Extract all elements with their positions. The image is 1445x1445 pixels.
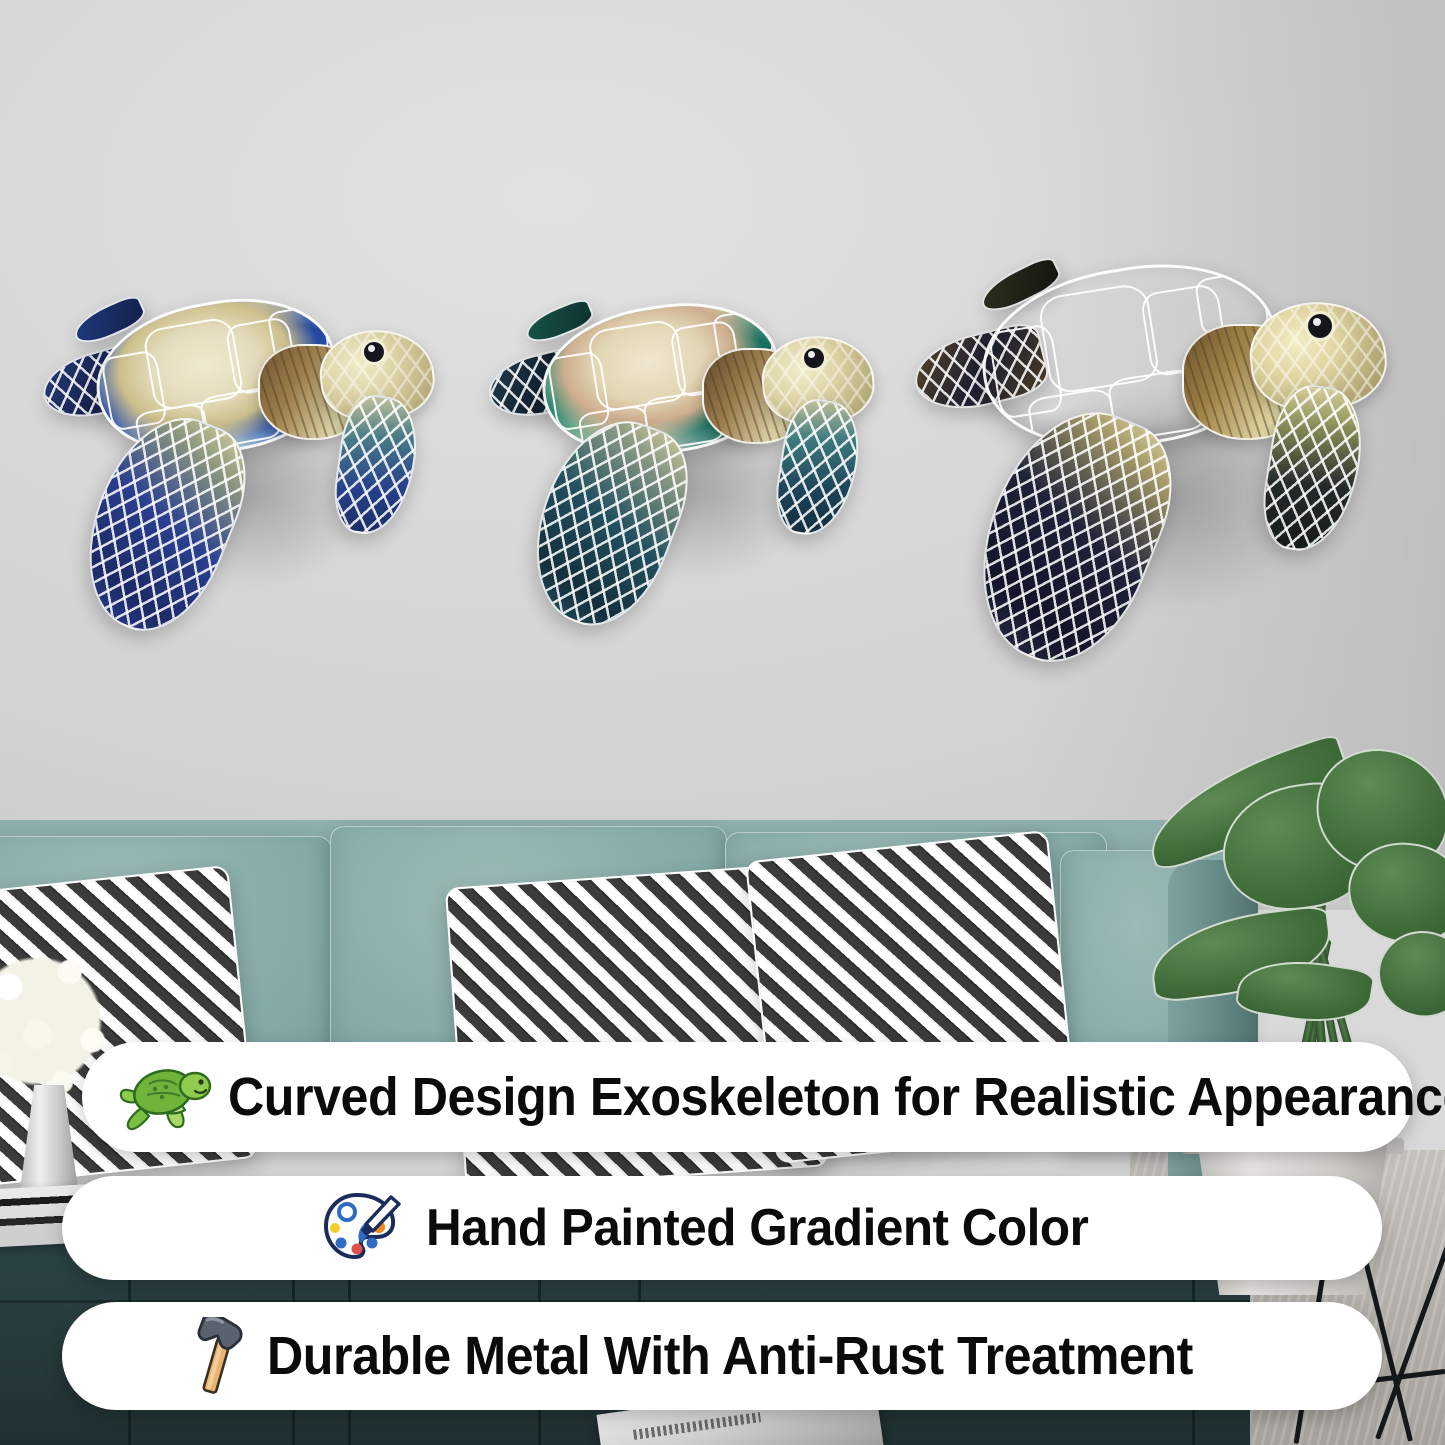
feature-banner-hand-painted[interactable]: Hand Painted Gradient Color (62, 1176, 1382, 1280)
turtle-icon (118, 1061, 214, 1133)
product-feature-image: Curved Design Exoskeleton for Realistic … (0, 0, 1445, 1445)
feature-label: Hand Painted Gradient Color (426, 1198, 1088, 1258)
turtle-eye (364, 342, 384, 362)
feature-label: Durable Metal With Anti-Rust Treatment (267, 1325, 1193, 1387)
turtle-sculpture-blue (48, 286, 438, 636)
turtle-eye (1308, 314, 1332, 338)
feature-label: Curved Design Exoskeleton for Realistic … (228, 1066, 1445, 1128)
hammer-icon (181, 1317, 259, 1395)
turtle-sculpture-brown (920, 256, 1390, 666)
palette-icon (320, 1191, 404, 1265)
turtle-eye (804, 348, 824, 368)
turtle-sculpture-teal (498, 296, 878, 626)
feature-banner-curved-design[interactable]: Curved Design Exoskeleton for Realistic … (82, 1042, 1413, 1152)
feature-banner-durable-metal[interactable]: Durable Metal With Anti-Rust Treatment (62, 1302, 1382, 1410)
